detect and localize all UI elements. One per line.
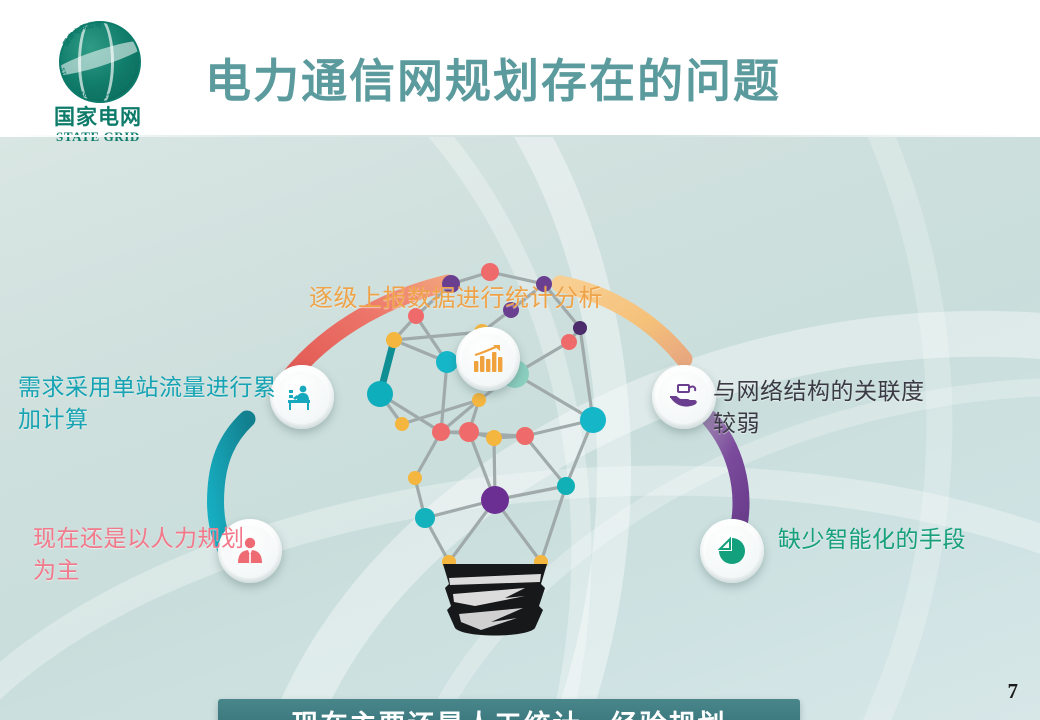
- node-left-upper[interactable]: [270, 365, 334, 429]
- slide-root: 逐级上报数据进行统计分析 需求采用单站流量进行累加计算 现在还是以人力规划为主 …: [0, 0, 1040, 720]
- bar-chart-growth-icon: [472, 344, 504, 374]
- logo-name-en: STATE GRID: [33, 129, 163, 145]
- slide-header: 国家电网公司 STATE GRID CORPORATION OF CHINA 国…: [0, 0, 1040, 137]
- page-number: 7: [1008, 679, 1019, 704]
- caption-left-upper: 需求采用单站流量进行累加计算: [18, 373, 278, 436]
- caption-right-lower: 缺少智能化的手段: [778, 525, 998, 557]
- page-title: 电力通信网规划存在的问题: [205, 45, 845, 111]
- bulb-base-icon: [443, 564, 547, 636]
- svg-text:STATE GRID CORPORATION OF CHIN: STATE GRID CORPORATION OF CHINA: [55, 18, 138, 101]
- svg-text:国家电网公司: 国家电网公司: [61, 21, 102, 47]
- summary-banner: 现在主要还是人工统计、经验规划: [218, 699, 800, 720]
- node-top[interactable]: [456, 327, 520, 391]
- person-at-desk-icon: [286, 381, 318, 413]
- summary-banner-text: 现在主要还是人工统计、经验规划: [292, 703, 727, 720]
- hand-holding-card-icon: [668, 383, 700, 411]
- caption-top: 逐级上报数据进行统计分析: [309, 282, 603, 315]
- state-grid-globe-icon: 国家电网公司 STATE GRID CORPORATION OF CHINA: [55, 18, 141, 104]
- node-right-upper[interactable]: [652, 365, 716, 429]
- header-divider: [0, 135, 1040, 137]
- state-grid-logo: 国家电网公司 STATE GRID CORPORATION OF CHINA 国…: [33, 18, 163, 128]
- node-right-lower[interactable]: [700, 519, 764, 583]
- caption-left-lower: 现在还是以人力规划为主: [33, 524, 253, 587]
- pie-chart-icon: [717, 536, 747, 566]
- logo-arc-text: 国家电网公司 STATE GRID CORPORATION OF CHINA: [55, 18, 141, 104]
- caption-right-upper: 与网络结构的关联度较弱: [713, 377, 943, 440]
- slide-body: 逐级上报数据进行统计分析 需求采用单站流量进行累加计算 现在还是以人力规划为主 …: [0, 137, 1040, 720]
- logo-name-cn: 国家电网: [33, 106, 163, 128]
